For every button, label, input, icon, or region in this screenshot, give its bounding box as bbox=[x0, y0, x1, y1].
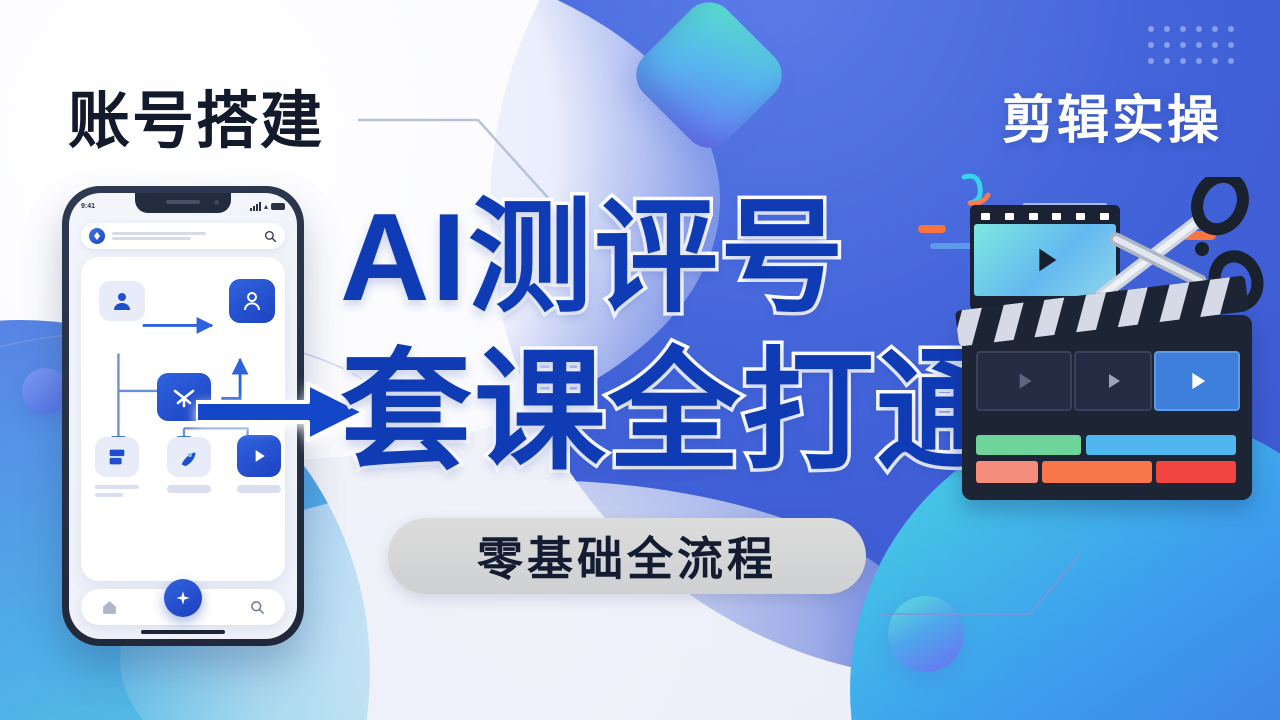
play-icon bbox=[1028, 243, 1062, 277]
list-item-label bbox=[95, 493, 123, 497]
decorative-connector-line-2 bbox=[880, 548, 1130, 628]
phone-search-bar[interactable] bbox=[81, 223, 285, 249]
play-icon bbox=[1011, 368, 1037, 394]
flow-node-rocket[interactable] bbox=[167, 437, 211, 477]
rocket-icon bbox=[178, 446, 200, 468]
document-icon bbox=[106, 446, 128, 468]
subtitle-pill: 零基础全流程 bbox=[388, 518, 866, 594]
title-line-1: AI测评号 bbox=[340, 196, 846, 320]
timeline-preview-active bbox=[1154, 351, 1240, 411]
user-target-icon bbox=[240, 289, 264, 313]
search-icon[interactable] bbox=[250, 600, 265, 615]
search-icon[interactable] bbox=[264, 230, 277, 243]
video-editing-illustration bbox=[960, 185, 1260, 515]
poster-canvas: 9:41 ▴ bbox=[0, 0, 1280, 720]
kicker-left-text: 账号搭建 bbox=[68, 70, 324, 160]
flow-node-document[interactable] bbox=[95, 437, 139, 477]
clapperboard-icon bbox=[962, 315, 1252, 500]
user-icon bbox=[110, 289, 134, 313]
phone-home-indicator bbox=[141, 630, 225, 634]
clip-blue[interactable] bbox=[1086, 435, 1236, 455]
wifi-icon: ▴ bbox=[264, 202, 268, 211]
search-input[interactable] bbox=[112, 230, 264, 242]
list-item-label bbox=[237, 485, 281, 493]
phone-status-bar: 9:41 ▴ bbox=[69, 197, 297, 215]
ai-network-icon bbox=[170, 383, 198, 411]
timeline-preview bbox=[976, 351, 1072, 411]
subtitle-text: 零基础全流程 bbox=[477, 523, 777, 589]
clip-orange[interactable] bbox=[1042, 461, 1152, 483]
status-time: 9:41 bbox=[81, 203, 95, 210]
dot-grid-pattern bbox=[1148, 26, 1244, 74]
decorative-streak bbox=[918, 225, 946, 233]
flow-node-user-target[interactable] bbox=[229, 279, 275, 323]
flow-node-user[interactable] bbox=[99, 281, 145, 321]
signal-icon bbox=[250, 202, 261, 211]
list-item-label bbox=[167, 485, 211, 493]
list-item-label bbox=[95, 485, 139, 489]
play-icon bbox=[249, 446, 269, 466]
home-icon[interactable] bbox=[101, 599, 118, 616]
timeline-preview bbox=[1074, 351, 1152, 411]
title-line-2: 套课全打通 bbox=[340, 346, 1010, 478]
kicker-right-text: 剪辑实操 bbox=[1002, 78, 1222, 153]
clip-red[interactable] bbox=[1156, 461, 1236, 483]
clip-salmon[interactable] bbox=[976, 461, 1038, 483]
clip-green[interactable] bbox=[976, 435, 1081, 455]
play-icon bbox=[1101, 369, 1125, 393]
app-logo-icon bbox=[89, 228, 105, 244]
battery-icon bbox=[271, 203, 285, 210]
sparkle-plus-icon[interactable] bbox=[164, 579, 202, 617]
play-icon bbox=[1183, 367, 1211, 395]
